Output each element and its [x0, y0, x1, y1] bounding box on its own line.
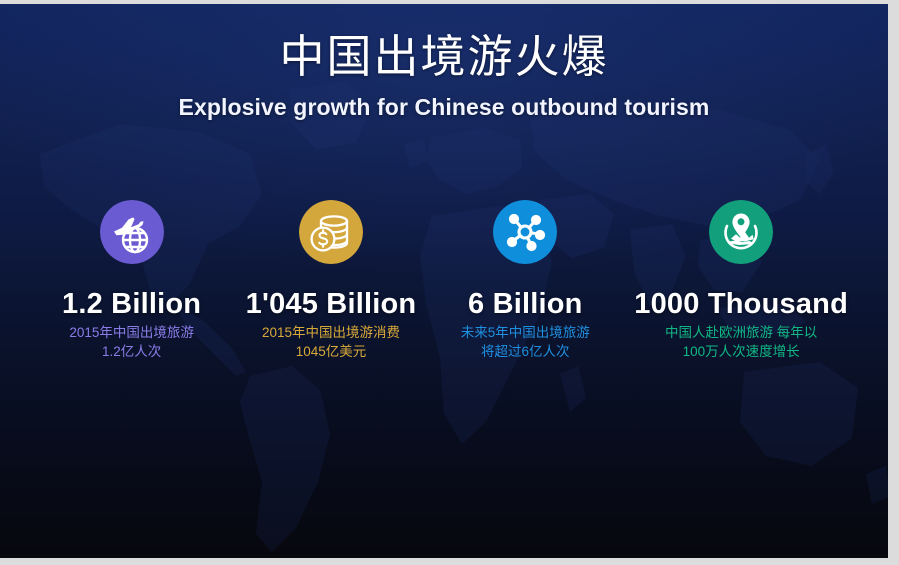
network-hub-icon	[493, 200, 557, 264]
page-subtitle-english: Explosive growth for Chinese outbound to…	[0, 92, 888, 122]
stat-icon-wrap	[634, 200, 848, 264]
stat-icon-wrap	[62, 200, 201, 264]
stat-caption-line-2: 100万人次速度增长	[634, 342, 848, 361]
stat-caption-line-2: 将超过6亿人次	[461, 342, 590, 361]
stat-value: 1.2 Billion	[62, 287, 201, 321]
stats-row: 1.2 Billion 2015年中国出境旅游 1.2亿人次	[62, 200, 848, 361]
stat-value: 1000 Thousand	[634, 287, 848, 321]
stat-value: 6 Billion	[461, 287, 590, 321]
slide-canvas: 中国出境游火爆 Explosive growth for Chinese out…	[0, 4, 888, 558]
stat-caption: 2015年中国出境游消费 1045亿美元	[246, 323, 417, 361]
stat-card-tourism-spending: 1'045 Billion 2015年中国出境游消费 1045亿美元	[246, 200, 417, 361]
stat-icon-wrap	[246, 200, 417, 264]
stat-caption-line-1: 中国人赴欧洲旅游 每年以	[634, 323, 848, 342]
stat-caption: 中国人赴欧洲旅游 每年以 100万人次速度增长	[634, 323, 848, 361]
stat-caption-line-2: 1.2亿人次	[62, 342, 201, 361]
stat-icon-wrap	[461, 200, 590, 264]
stat-caption: 2015年中国出境旅游 1.2亿人次	[62, 323, 201, 361]
stat-caption: 未来5年中国出境旅游 将超过6亿人次	[461, 323, 590, 361]
stat-caption-line-2: 1045亿美元	[246, 342, 417, 361]
page-title-chinese: 中国出境游火爆	[0, 32, 888, 82]
stat-caption-line-1: 未来5年中国出境旅游	[461, 323, 590, 342]
map-pin-globe-icon	[709, 200, 773, 264]
coin-stack-dollar-icon	[299, 200, 363, 264]
stat-caption-line-1: 2015年中国出境旅游	[62, 323, 201, 342]
stat-value: 1'045 Billion	[246, 287, 417, 321]
stat-card-europe-growth: 1000 Thousand 中国人赴欧洲旅游 每年以 100万人次速度增长	[634, 200, 848, 361]
stat-card-future-travelers: 6 Billion 未来5年中国出境旅游 将超过6亿人次	[461, 200, 590, 361]
airplane-globe-icon	[100, 200, 164, 264]
stat-caption-line-1: 2015年中国出境游消费	[246, 323, 417, 342]
slide-header: 中国出境游火爆 Explosive growth for Chinese out…	[0, 32, 888, 122]
stat-card-outbound-travelers: 1.2 Billion 2015年中国出境旅游 1.2亿人次	[62, 200, 201, 361]
